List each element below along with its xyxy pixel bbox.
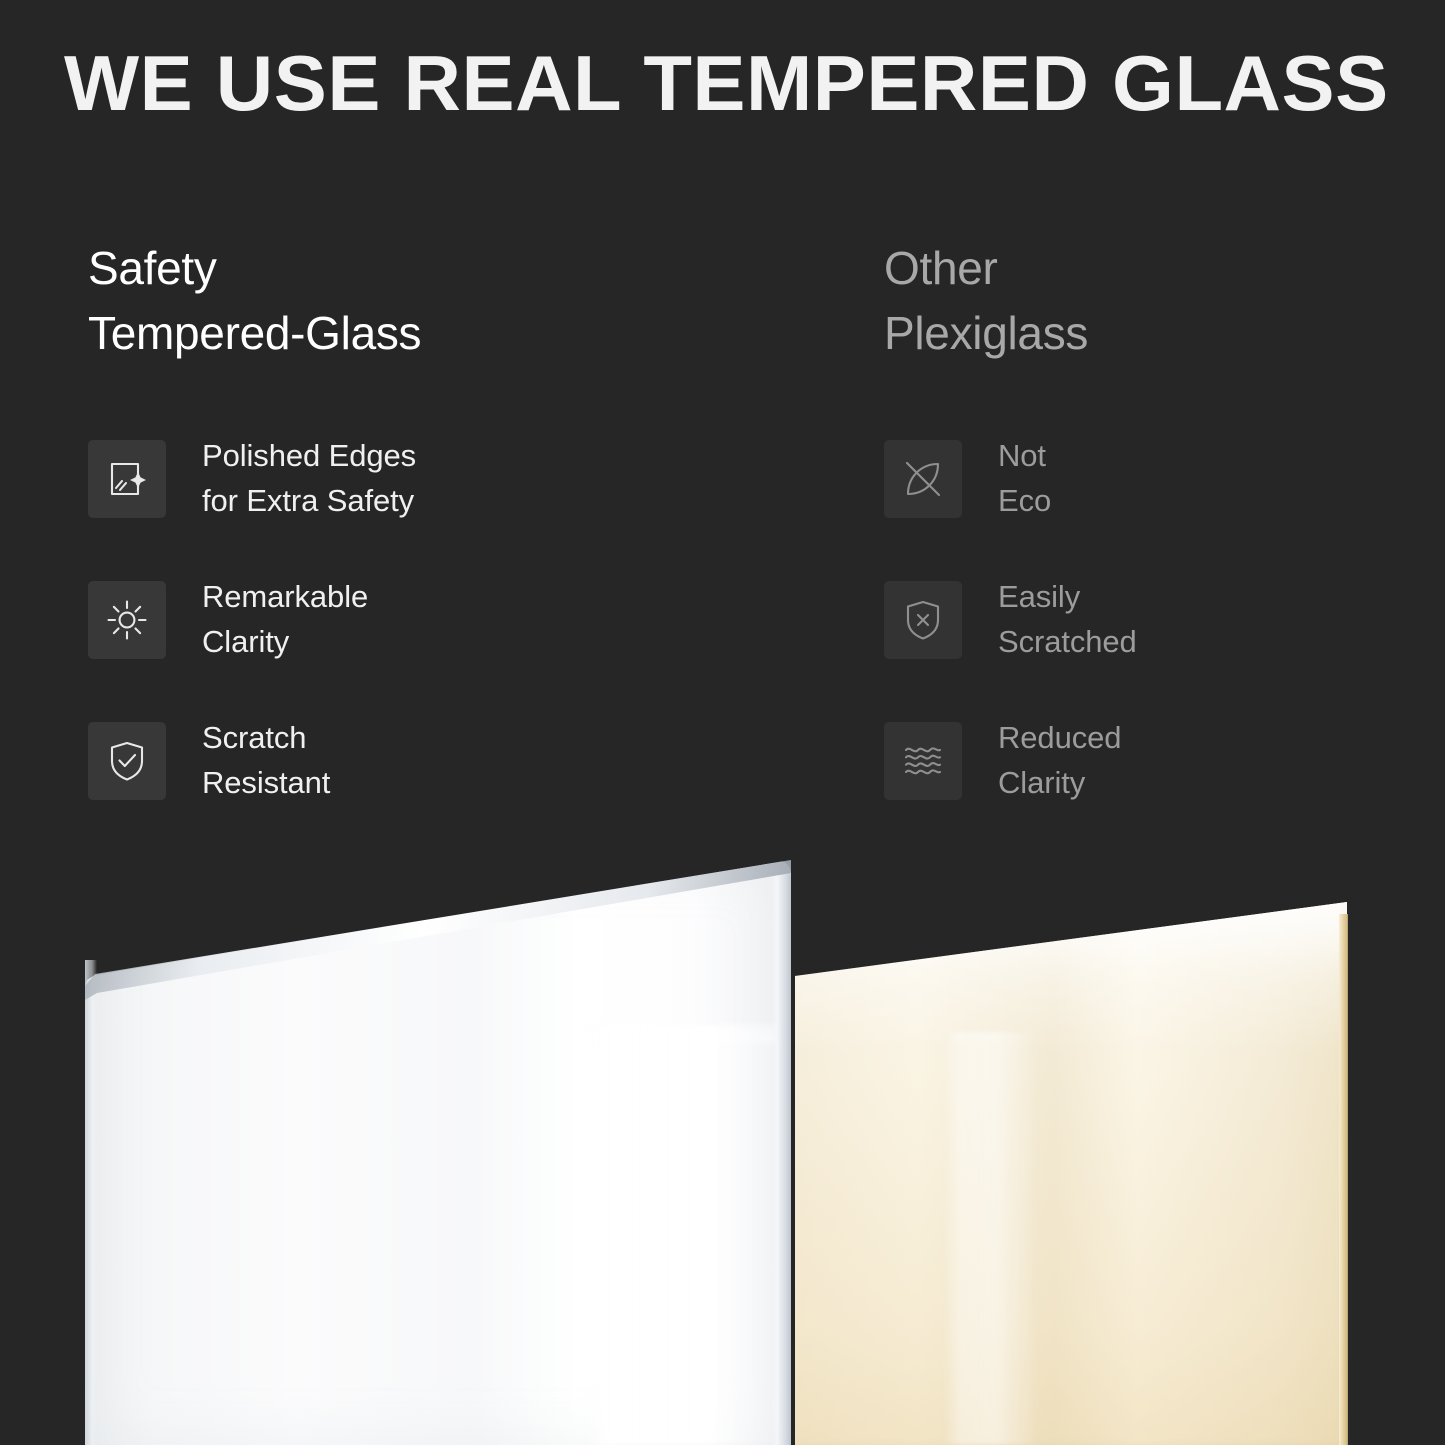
leaf-slashed-icon xyxy=(884,440,962,518)
feature-label: Remarkable Clarity xyxy=(202,575,368,665)
plexi-top-glow xyxy=(795,902,1347,1052)
feature-label: Easily Scratched xyxy=(998,575,1137,665)
feature-reduced-clarity: Reduced Clarity xyxy=(884,722,1424,800)
feature-scratch-resistant: Scratch Resistant xyxy=(88,722,788,800)
tempered-glass-panel xyxy=(85,860,791,1445)
column-heading-plexiglass: Other Plexiglass xyxy=(884,236,1424,367)
sun-brightness-icon xyxy=(88,581,166,659)
column-tempered-glass: Safety Tempered-Glass Polished Edges for… xyxy=(88,236,788,367)
feature-remarkable-clarity: Remarkable Clarity xyxy=(88,581,788,659)
feature-label: Not Eco xyxy=(998,434,1051,524)
wavy-lines-icon xyxy=(884,722,962,800)
comparison-infographic: WE USE REAL TEMPERED GLASS Safety Temper… xyxy=(0,0,1445,1445)
plexi-reflection xyxy=(943,1032,1039,1445)
column-plexiglass: Other Plexiglass Not Eco xyxy=(884,236,1424,367)
plexiglass-panel xyxy=(795,902,1347,1445)
plexi-right-edge xyxy=(1339,914,1348,1445)
glass-left-polished-edge xyxy=(85,960,97,1445)
column-heading-tempered-glass: Safety Tempered-Glass xyxy=(88,236,788,367)
feature-list-plexiglass: Not Eco Easily Scratched xyxy=(884,440,1424,800)
feature-not-eco: Not Eco xyxy=(884,440,1424,518)
shield-check-icon xyxy=(88,722,166,800)
page-title: WE USE REAL TEMPERED GLASS xyxy=(64,44,1421,122)
feature-label: Polished Edges for Extra Safety xyxy=(202,434,416,524)
polished-glass-sparkle-icon xyxy=(88,440,166,518)
feature-label: Reduced Clarity xyxy=(998,716,1121,806)
feature-list-tempered-glass: Polished Edges for Extra Safety Remarkab… xyxy=(88,440,788,800)
feature-easily-scratched: Easily Scratched xyxy=(884,581,1424,659)
glass-reflection xyxy=(585,1025,775,1445)
shield-x-icon xyxy=(884,581,962,659)
glass-right-polished-edge xyxy=(770,865,791,1445)
feature-polished-edges: Polished Edges for Extra Safety xyxy=(88,440,788,518)
product-photo-area xyxy=(0,840,1445,1445)
feature-label: Scratch Resistant xyxy=(202,716,330,806)
